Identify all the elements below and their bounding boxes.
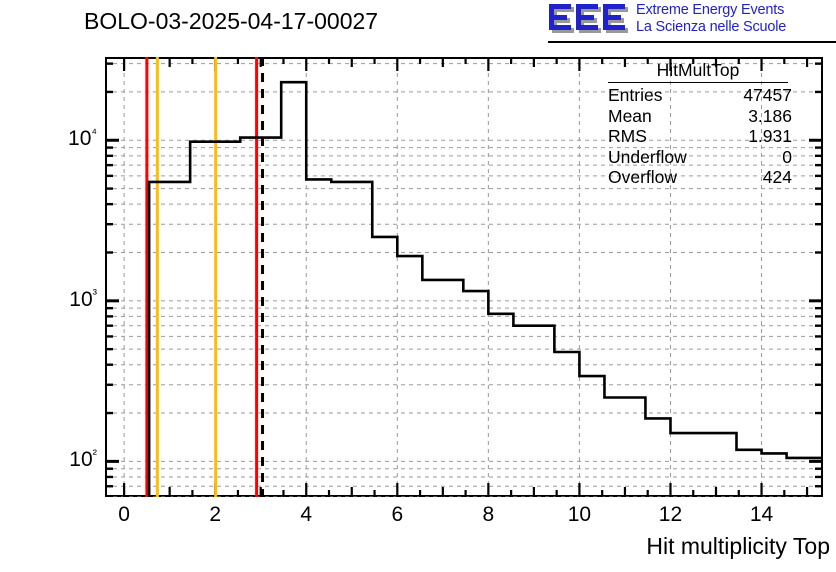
stats-divider bbox=[608, 82, 788, 83]
y-tick-label: 10² bbox=[35, 446, 97, 472]
header-divider bbox=[548, 41, 836, 43]
stats-row: Underflow0 bbox=[600, 147, 796, 168]
x-tick-label: 8 bbox=[466, 503, 510, 527]
stats-row-value: 0 bbox=[782, 147, 792, 168]
marker-lines bbox=[147, 57, 263, 497]
eee-letters-icon bbox=[548, 3, 632, 37]
stats-box: HitMultTop Entries47457Mean3.186RMS1.931… bbox=[600, 60, 796, 188]
root-canvas: BOLO-03-2025-04-17-00027 bbox=[0, 0, 836, 572]
stats-row: Mean3.186 bbox=[600, 106, 796, 127]
x-tick-label: 14 bbox=[740, 503, 784, 527]
x-tick-label: 10 bbox=[557, 503, 601, 527]
y-tick-label: 10⁴ bbox=[35, 125, 97, 151]
logo-line-1: Extreme Energy Events bbox=[636, 2, 786, 19]
x-tick-label: 4 bbox=[284, 503, 328, 527]
stats-row-label: Entries bbox=[608, 85, 662, 106]
stats-row-label: Overflow bbox=[608, 167, 677, 188]
stats-row-value: 1.931 bbox=[748, 126, 792, 147]
y-tick-label: 10³ bbox=[35, 286, 97, 312]
page-title: BOLO-03-2025-04-17-00027 bbox=[84, 8, 378, 35]
eee-logo: Extreme Energy Events La Scienza nelle S… bbox=[548, 2, 834, 42]
stats-rows: Entries47457Mean3.186RMS1.931Underflow0O… bbox=[600, 85, 796, 188]
x-tick-label: 12 bbox=[648, 503, 692, 527]
x-tick-label: 0 bbox=[102, 503, 146, 527]
stats-title: HitMultTop bbox=[600, 60, 796, 82]
stats-row-value: 3.186 bbox=[748, 106, 792, 127]
stats-row-label: Underflow bbox=[608, 147, 687, 168]
stats-row: Overflow424 bbox=[600, 167, 796, 188]
logo-line-2: La Scienza nelle Scuole bbox=[636, 19, 786, 36]
stats-row: Entries47457 bbox=[600, 85, 796, 106]
x-axis-title: Hit multiplicity Top bbox=[646, 533, 830, 560]
stats-row-value: 424 bbox=[763, 167, 792, 188]
stats-row: RMS1.931 bbox=[600, 126, 796, 147]
stats-row-label: RMS bbox=[608, 126, 647, 147]
stats-row-value: 47457 bbox=[743, 85, 792, 106]
x-tick-label: 2 bbox=[193, 503, 237, 527]
stats-row-label: Mean bbox=[608, 106, 652, 127]
x-tick-label: 6 bbox=[375, 503, 419, 527]
logo-text-block: Extreme Energy Events La Scienza nelle S… bbox=[636, 2, 786, 36]
